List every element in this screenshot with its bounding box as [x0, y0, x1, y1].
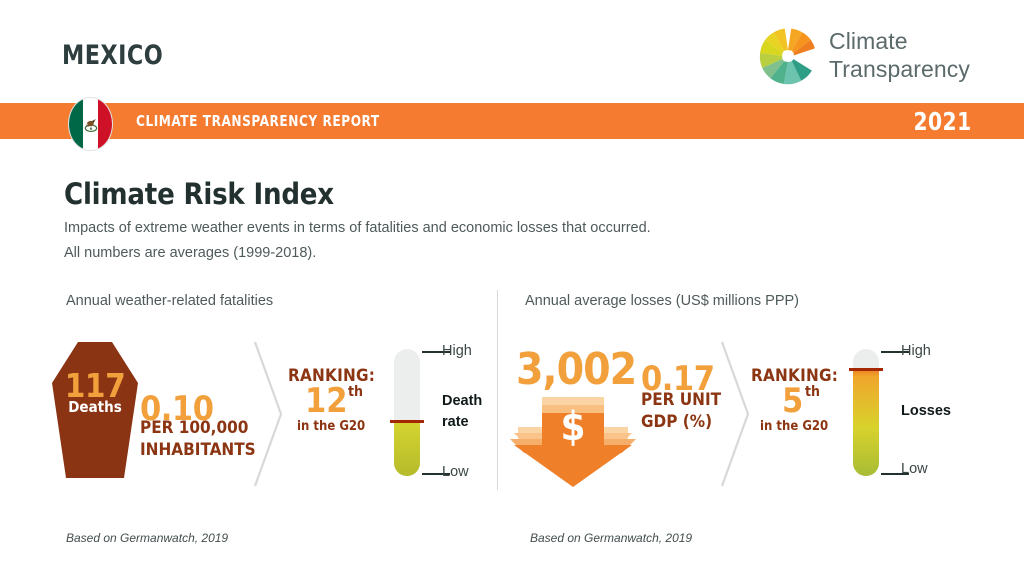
brand-logo-line2: Transparency: [829, 55, 970, 83]
losses-gauge-low-label: Low: [901, 461, 928, 477]
climate-transparency-pinwheel-icon: [757, 25, 819, 87]
gdp-rate-unit: PER UNIT GDP (%): [641, 389, 721, 433]
death-gauge-high-label: High: [442, 343, 472, 359]
dollar-symbol: $: [508, 404, 638, 450]
panel-divider: [497, 290, 498, 490]
page-title: MEXICO: [62, 40, 163, 71]
section-subtitle-line2: All numbers are averages (1999-2018).: [64, 242, 316, 264]
brand-logo-line1: Climate: [829, 27, 970, 55]
mexico-flag-icon: [68, 97, 113, 151]
section-title: Climate Risk Index: [64, 177, 334, 211]
right-panel-footnote: Based on Germanwatch, 2019: [530, 531, 692, 545]
losses-value: 3,002: [516, 344, 636, 395]
death-gauge-low-label: Low: [442, 464, 469, 480]
losses-gauge-name-line1: Losses: [901, 401, 951, 422]
section-subtitle-line1: Impacts of extreme weather events in ter…: [64, 217, 651, 239]
death-gauge-name-line2: rate: [442, 412, 482, 433]
gdp-rate-unit-line1: PER UNIT: [641, 389, 721, 411]
death-ranking-value: 12: [305, 381, 348, 421]
losses-ranking-group: in the G20: [760, 419, 828, 434]
death-gauge-name: Death rate: [442, 391, 482, 433]
left-panel-footnote: Based on Germanwatch, 2019: [66, 531, 228, 545]
brand-logo-text: Climate Transparency: [829, 27, 970, 83]
mexico-eagle-emblem-icon: [82, 116, 99, 133]
losses-ranking-value: 5: [782, 381, 803, 421]
death-ranking-group: in the G20: [297, 419, 365, 434]
death-rate-unit-line1: PER 100,000: [140, 417, 256, 439]
report-year: 2021: [914, 107, 972, 136]
death-rate-gauge-marker: [390, 420, 424, 423]
chevron-right-icon: [714, 340, 756, 493]
losses-gauge-fill: [853, 368, 879, 476]
losses-gauge-name: Losses: [901, 401, 951, 422]
gdp-rate-unit-line2: GDP (%): [641, 411, 721, 433]
death-gauge-name-line1: Death: [442, 391, 482, 412]
death-rate-unit-line2: INHABITANTS: [140, 439, 256, 461]
chevron-right-icon: [247, 340, 289, 493]
fatalities-label: Deaths: [52, 398, 138, 416]
death-rate-unit: PER 100,000 INHABITANTS: [140, 417, 256, 461]
right-panel-heading: Annual average losses (US$ millions PPP): [525, 293, 799, 309]
brand-logo: Climate Transparency: [757, 25, 962, 87]
death-rate-gauge: [394, 349, 420, 476]
report-banner-title: CLIMATE TRANSPARENCY REPORT: [136, 112, 380, 130]
left-panel-heading: Annual weather-related fatalities: [66, 293, 273, 309]
death-ranking-suffix: th: [348, 384, 363, 400]
losses-gauge-high-label: High: [901, 343, 931, 359]
losses-ranking-suffix: th: [805, 384, 820, 400]
death-rate-gauge-fill: [394, 420, 420, 476]
flag-stripe-red: [98, 98, 112, 150]
losses-gauge-marker: [849, 368, 883, 371]
infographic-page: MEXICO: [0, 0, 1024, 576]
